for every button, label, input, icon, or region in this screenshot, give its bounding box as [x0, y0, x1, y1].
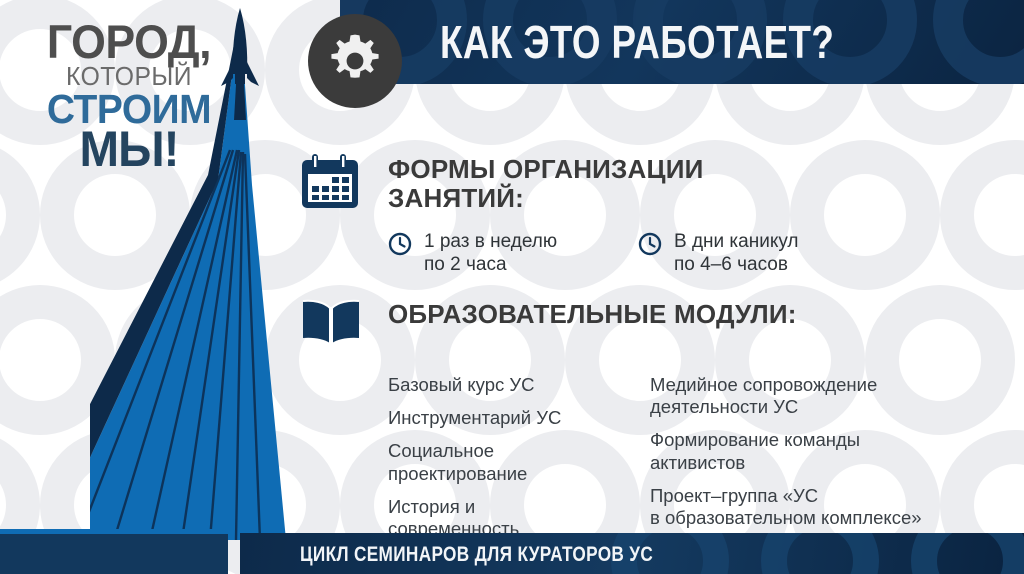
module-item: Медийное сопровождение деятельности УС [650, 374, 1010, 418]
bullet-holidays-text: В дни каникул по 4–6 часов [674, 230, 799, 276]
open-book-icon [300, 298, 362, 346]
gear-icon [325, 31, 385, 91]
section-title-modules: ОБРАЗОВАТЕЛЬНЫЕ МОДУЛИ: [388, 300, 808, 329]
logo-line-2: КОТОРЫЙ [39, 65, 220, 87]
module-item: Формирование команды активистов [650, 429, 1010, 473]
logo-line-4: МЫ! [39, 128, 220, 171]
modules-column-left: Базовый курс УС Инструментарий УС Социал… [388, 374, 638, 551]
gear-icon-badge [308, 14, 402, 108]
bullet-weekly-text: 1 раз в неделю по 2 часа [424, 230, 557, 276]
brand-logo: ГОРОД, КОТОРЫЙ СТРОИМ МЫ! [34, 22, 224, 171]
logo-line-1: ГОРОД, [39, 22, 220, 62]
module-item: Социальное проектирование [388, 440, 638, 484]
footer-bar: ЦИКЛ СЕМИНАРОВ ДЛЯ КУРАТОРОВ УС [240, 533, 1024, 574]
module-item: Проект–группа «УС в образовательном комп… [650, 485, 1010, 529]
modules-column-right: Медийное сопровождение деятельности УС Ф… [650, 374, 1010, 540]
slide-root: КАК ЭТО РАБОТАЕТ? [0, 0, 1024, 574]
bullet-weekly: 1 раз в неделю по 2 часа [388, 230, 557, 276]
bullet-holidays: В дни каникул по 4–6 часов [638, 230, 799, 276]
section-title-forms: ФОРМЫ ОРГАНИЗАЦИИ ЗАНЯТИЙ: [388, 155, 808, 213]
clock-icon [388, 232, 412, 256]
calendar-icon [300, 152, 360, 210]
footer-title: ЦИКЛ СЕМИНАРОВ ДЛЯ КУРАТОРОВ УС [300, 543, 653, 567]
clock-icon [638, 232, 662, 256]
module-item: Инструментарий УС [388, 407, 638, 429]
module-item: Базовый курс УС [388, 374, 638, 396]
monument-base-accent [0, 529, 228, 534]
